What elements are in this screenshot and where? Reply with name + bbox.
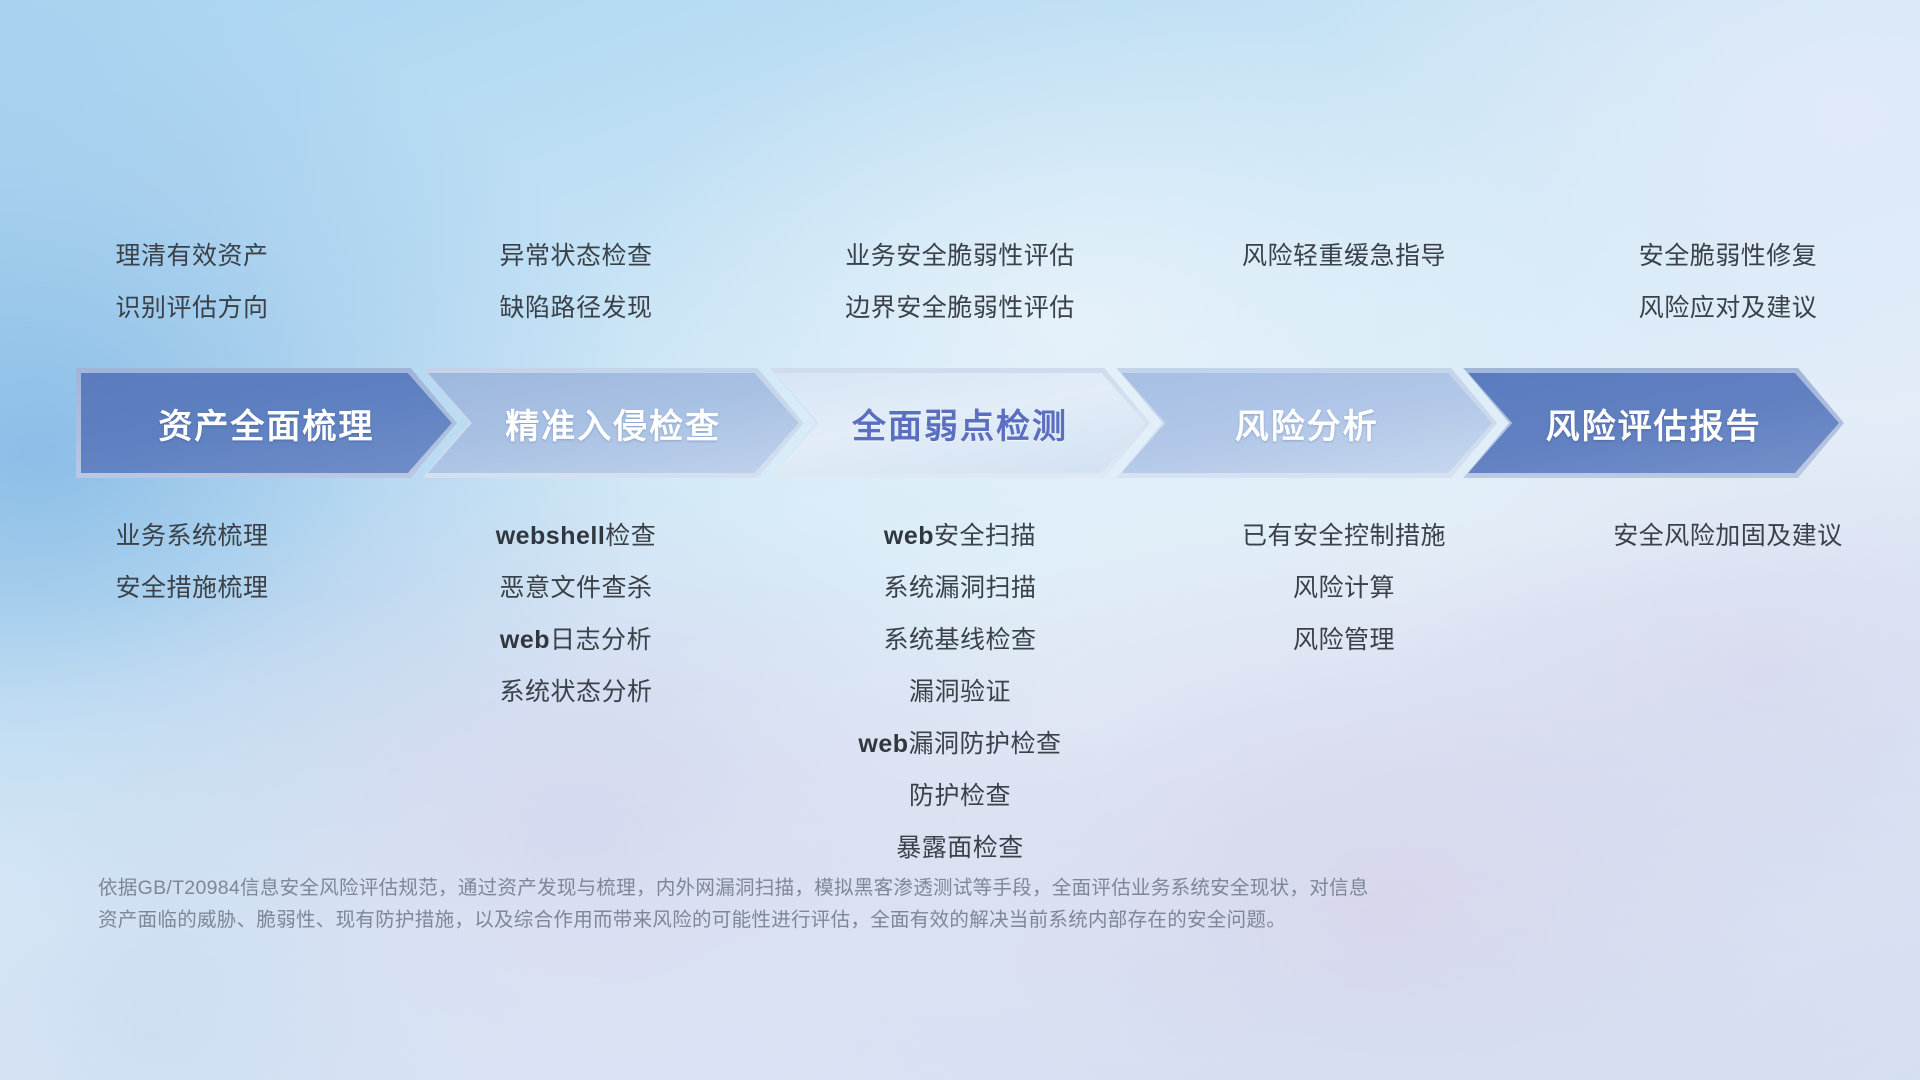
stage-activities-risk-analysis: 已有安全控制措施风险计算风险管理 [1152, 510, 1536, 666]
process-chevron-band: 资产全面梳理精准入侵检查全面弱点检测风险分析风险评估报告 [76, 368, 1844, 478]
activity-item-emphasis: web [858, 730, 908, 758]
activity-item: 系统状态分析 [499, 666, 652, 718]
chevron-label: 精准入侵检查 [505, 399, 721, 448]
activity-item-text: 日志分析 [550, 626, 652, 654]
activity-item: 风险计算 [1293, 562, 1395, 614]
stage-outputs-weakness-detection: 业务安全脆弱性评估边界安全脆弱性评估 [768, 230, 1152, 334]
activity-item-text: 风险计算 [1293, 574, 1395, 602]
stage-activities-asset-inventory: 业务系统梳理安全措施梳理 [0, 510, 384, 614]
activity-item-text: 系统漏洞扫描 [883, 574, 1036, 602]
activity-item-text: 漏洞防护检查 [909, 730, 1062, 758]
stage-outputs-asset-inventory: 理清有效资产识别评估方向 [0, 230, 384, 334]
chevron-label: 全面弱点检测 [852, 399, 1068, 448]
stage-activities-weakness-detection: web安全扫描系统漏洞扫描系统基线检查漏洞验证web漏洞防护检查防护检查暴露面检… [768, 510, 1152, 874]
output-item: 缺陷路径发现 [499, 282, 652, 334]
stage-outputs-risk-report: 安全脆弱性修复风险应对及建议 [1536, 230, 1920, 334]
output-item: 异常状态检查 [499, 230, 652, 282]
stage-outputs-risk-analysis: 风险轻重缓急指导 [1152, 230, 1536, 334]
activity-item-text: 系统状态分析 [499, 678, 652, 706]
activity-item-text: 漏洞验证 [909, 678, 1011, 706]
activity-item-text: 防护检查 [909, 782, 1011, 810]
activity-item: 系统基线检查 [883, 614, 1036, 666]
activity-item-emphasis: web [500, 626, 550, 654]
chevron-label: 资产全面梳理 [158, 399, 374, 448]
footer-line-2: 资产面临的威胁、脆弱性、现有防护措施，以及综合作用而带来风险的可能性进行评估，全… [98, 904, 1618, 936]
activity-item: web漏洞防护检查 [858, 718, 1061, 770]
stage-activities-row: 业务系统梳理安全措施梳理webshell检查恶意文件查杀web日志分析系统状态分… [0, 510, 1920, 874]
output-item: 风险应对及建议 [1639, 282, 1818, 334]
activity-item-text: 检查 [605, 522, 656, 550]
output-item: 业务安全脆弱性评估 [845, 230, 1075, 282]
activity-item: 安全风险加固及建议 [1613, 510, 1843, 562]
activity-item-text: 安全措施梳理 [115, 574, 268, 602]
output-item: 风险轻重缓急指导 [1242, 230, 1446, 282]
activity-item-text: 业务系统梳理 [115, 522, 268, 550]
activity-item-emphasis: web [884, 522, 934, 550]
activity-item: web安全扫描 [884, 510, 1036, 562]
output-item: 边界安全脆弱性评估 [845, 282, 1075, 334]
activity-item-text: 恶意文件查杀 [499, 574, 652, 602]
activity-item-emphasis: webshell [496, 522, 606, 550]
chevron-intrusion-check[interactable]: 精准入侵检查 [423, 368, 804, 478]
activity-item-text: 已有安全控制措施 [1242, 522, 1446, 550]
activity-item: 防护检查 [909, 770, 1011, 822]
activity-item: 已有安全控制措施 [1242, 510, 1446, 562]
stage-outputs-row: 理清有效资产识别评估方向异常状态检查缺陷路径发现业务安全脆弱性评估边界安全脆弱性… [0, 230, 1920, 334]
stage-outputs-intrusion-check: 异常状态检查缺陷路径发现 [384, 230, 768, 334]
stage-activities-risk-report: 安全风险加固及建议 [1536, 510, 1920, 562]
chevron-risk-analysis[interactable]: 风险分析 [1116, 368, 1497, 478]
activity-item-text: 安全风险加固及建议 [1613, 522, 1843, 550]
activity-item: 业务系统梳理 [115, 510, 268, 562]
output-item: 识别评估方向 [115, 282, 268, 334]
activity-item-text: 安全扫描 [934, 522, 1036, 550]
output-item: 理清有效资产 [115, 230, 268, 282]
chevron-asset-inventory[interactable]: 资产全面梳理 [76, 368, 457, 478]
footer-description: 依据GB/T20984信息安全风险评估规范，通过资产发现与梳理，内外网漏洞扫描，… [98, 872, 1618, 936]
stage-activities-intrusion-check: webshell检查恶意文件查杀web日志分析系统状态分析 [384, 510, 768, 718]
activity-item: web日志分析 [500, 614, 652, 666]
activity-item: 暴露面检查 [896, 822, 1024, 874]
activity-item: 风险管理 [1293, 614, 1395, 666]
activity-item: webshell检查 [496, 510, 657, 562]
chevron-risk-report[interactable]: 风险评估报告 [1463, 368, 1844, 478]
activity-item: 漏洞验证 [909, 666, 1011, 718]
activity-item: 系统漏洞扫描 [883, 562, 1036, 614]
chevron-label: 风险分析 [1235, 399, 1379, 448]
chevron-label: 风险评估报告 [1546, 399, 1762, 448]
output-item: 安全脆弱性修复 [1639, 230, 1818, 282]
activity-item-text: 暴露面检查 [896, 834, 1024, 862]
activity-item: 安全措施梳理 [115, 562, 268, 614]
activity-item-text: 风险管理 [1293, 626, 1395, 654]
footer-line-1: 依据GB/T20984信息安全风险评估规范，通过资产发现与梳理，内外网漏洞扫描，… [98, 872, 1618, 904]
chevron-weakness-detection[interactable]: 全面弱点检测 [770, 368, 1151, 478]
activity-item: 恶意文件查杀 [499, 562, 652, 614]
activity-item-text: 系统基线检查 [883, 626, 1036, 654]
